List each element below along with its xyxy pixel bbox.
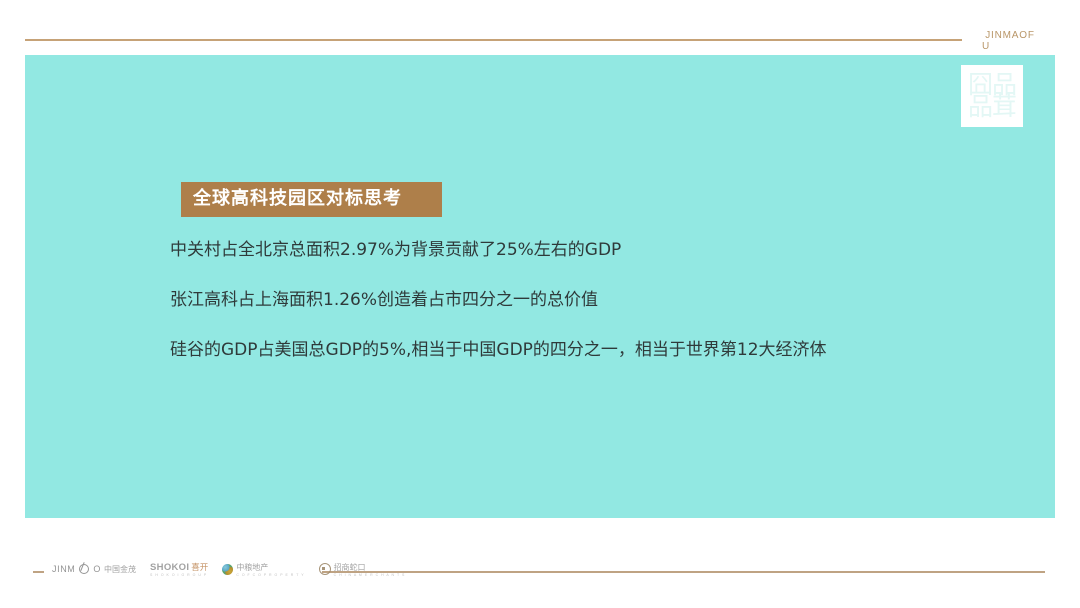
jinmao-en-tail: O: [93, 564, 101, 574]
page-header: JINMAOF U: [0, 0, 1080, 55]
seal-icon: [319, 563, 331, 575]
cofco-cn-label: 中粮地产: [236, 562, 304, 573]
body-line-2: 张江高科占上海面积1.26%创造着占市四分之一的总价值: [170, 290, 1030, 310]
slide-content-panel: 囧品品茸 全球高科技园区对标思考 中关村占全北京总面积2.97%为背景贡献了25…: [25, 55, 1055, 518]
footer-partner-logos: JINM O 中国金茂 SHOKOI 喜开 S H O K O I G R O …: [52, 561, 405, 577]
footer-divider-line: [322, 571, 1045, 573]
footer-left-dash: [33, 571, 44, 573]
page-footer: JINM O 中国金茂 SHOKOI 喜开 S H O K O I G R O …: [0, 558, 1080, 588]
brand-wordmark-line-2: U: [962, 41, 1058, 52]
footer-logo-shokoi: SHOKOI 喜开 S H O K O I G R O U P: [150, 561, 208, 577]
jinmao-a-icon: [79, 564, 89, 574]
shokoi-en-label: SHOKOI: [150, 562, 189, 573]
shokoi-cn-label: 喜开: [191, 561, 208, 573]
brand-wordmark-line-1: JINMAOF: [962, 30, 1058, 41]
footer-logo-jinmao: JINM O 中国金茂: [52, 564, 136, 575]
corner-logo-box: 囧品品茸: [961, 65, 1023, 127]
globe-icon: [222, 564, 233, 575]
header-divider-line: [25, 39, 1055, 41]
body-text-block: 中关村占全北京总面积2.97%为背景贡献了25%左右的GDP 张江高科占上海面积…: [170, 240, 1030, 390]
jinmao-en-label: JINM: [52, 564, 75, 574]
cmsk-sub-label: C H I N A M E R C H A N T S: [334, 573, 406, 577]
footer-logo-cmsk: 招商蛇口 C H I N A M E R C H A N T S: [319, 562, 406, 577]
cofco-sub-label: C O F C O P R O P E R T Y: [236, 573, 304, 577]
brand-wordmark: JINMAOF U: [962, 30, 1058, 52]
cmsk-cn-label: 招商蛇口: [334, 562, 406, 573]
jinmao-cn-label: 中国金茂: [104, 564, 136, 575]
body-line-1: 中关村占全北京总面积2.97%为背景贡献了25%左右的GDP: [170, 240, 1030, 260]
shokoi-sub-label: S H O K O I G R O U P: [150, 573, 208, 577]
jinmao-seal-icon: 囧品品茸: [968, 74, 1016, 118]
section-title-banner: 全球高科技园区对标思考: [181, 182, 442, 217]
body-line-3: 硅谷的GDP占美国总GDP的5%,相当于中国GDP的四分之一，相当于世界第12大…: [170, 340, 1030, 360]
footer-logo-cofco: 中粮地产 C O F C O P R O P E R T Y: [222, 562, 304, 577]
